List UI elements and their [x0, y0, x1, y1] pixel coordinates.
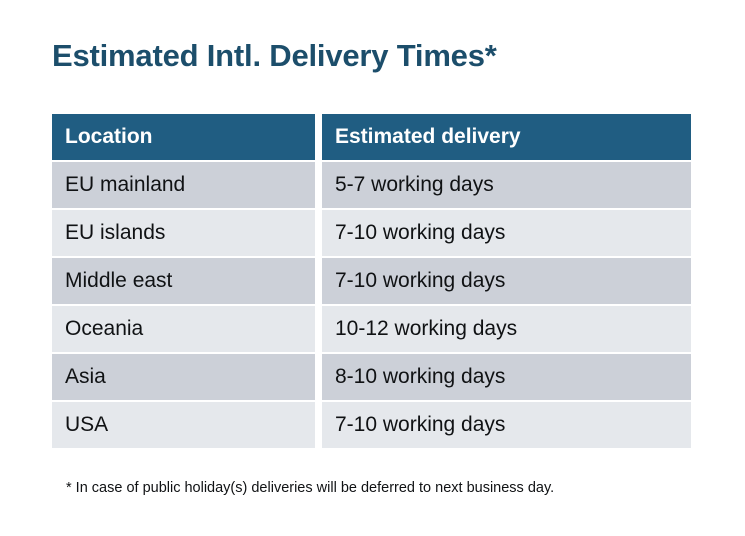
cell-location: EU mainland — [52, 162, 315, 208]
cell-estimated-delivery: 10-12 working days — [322, 306, 691, 352]
table-body: EU mainland 5-7 working days EU islands … — [52, 160, 691, 448]
cell-divider — [315, 210, 322, 256]
cell-estimated-delivery: 8-10 working days — [322, 354, 691, 400]
cell-location: Asia — [52, 354, 315, 400]
cell-estimated-delivery: 7-10 working days — [322, 258, 691, 304]
cell-divider — [315, 162, 322, 208]
column-divider — [315, 114, 322, 160]
table-header: Location Estimated delivery — [52, 114, 691, 160]
table-row: EU islands 7-10 working days — [52, 210, 691, 256]
delivery-times-table: Location Estimated delivery EU mainland … — [52, 114, 691, 448]
table-header-row: Location Estimated delivery — [52, 114, 691, 160]
column-header-estimated-delivery: Estimated delivery — [322, 114, 691, 160]
cell-estimated-delivery: 7-10 working days — [322, 402, 691, 448]
delivery-times-page: Estimated Intl. Delivery Times* Location… — [0, 0, 745, 536]
cell-location: Middle east — [52, 258, 315, 304]
cell-estimated-delivery: 5-7 working days — [322, 162, 691, 208]
page-title: Estimated Intl. Delivery Times* — [52, 38, 497, 74]
cell-location: EU islands — [52, 210, 315, 256]
cell-divider — [315, 258, 322, 304]
cell-location: USA — [52, 402, 315, 448]
footnote-text: * In case of public holiday(s) deliverie… — [66, 480, 554, 496]
table-row: USA 7-10 working days — [52, 402, 691, 448]
table-row: Oceania 10-12 working days — [52, 306, 691, 352]
cell-location: Oceania — [52, 306, 315, 352]
table-row: EU mainland 5-7 working days — [52, 162, 691, 208]
cell-divider — [315, 306, 322, 352]
cell-divider — [315, 354, 322, 400]
table-row: Middle east 7-10 working days — [52, 258, 691, 304]
cell-divider — [315, 402, 322, 448]
table-row: Asia 8-10 working days — [52, 354, 691, 400]
column-header-location: Location — [52, 114, 315, 160]
cell-estimated-delivery: 7-10 working days — [322, 210, 691, 256]
